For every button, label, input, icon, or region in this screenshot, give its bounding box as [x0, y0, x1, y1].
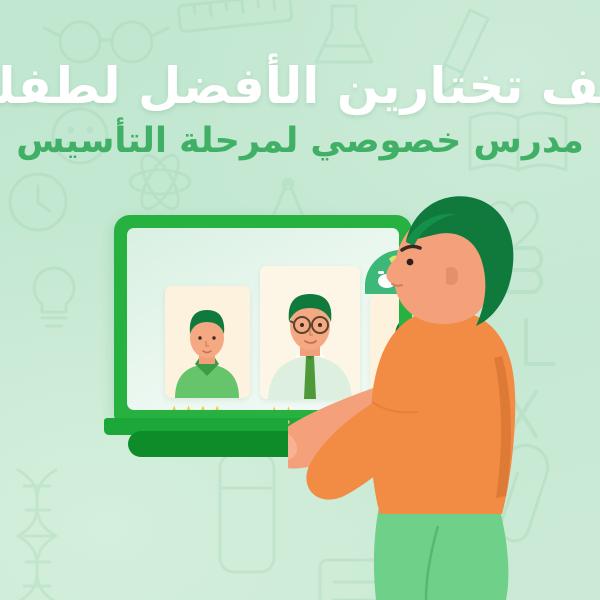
banner-canvas: كيف تختارين الأفضل لطفلك مدرس خصوصي لمرح… [0, 0, 600, 600]
teacher-card-1[interactable] [165, 286, 250, 398]
rating-stars-card-1: ★★★★ [167, 404, 224, 410]
parent-illustration [288, 196, 600, 600]
avatar [165, 286, 250, 398]
star-icon: ★★★★ [167, 404, 224, 410]
